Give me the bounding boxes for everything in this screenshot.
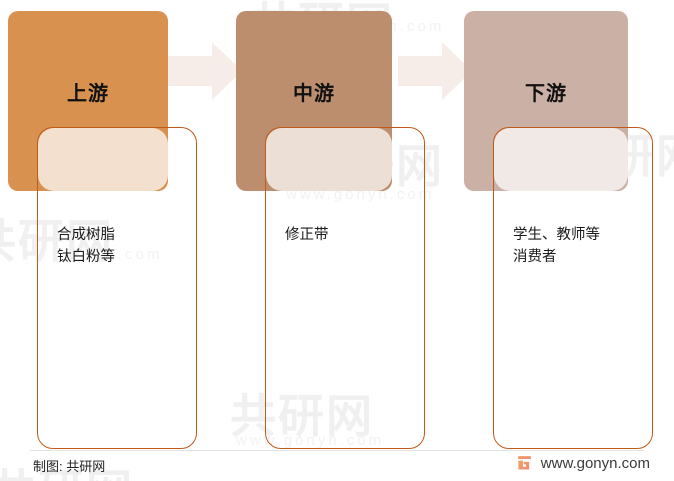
- stage-body-text-upstream: 合成树脂 钛白粉等: [57, 224, 189, 269]
- diagram-canvas: 共研网yn.com共研网yn.com共研网www.gonyn.com共研网共研网…: [0, 0, 674, 481]
- arrow-upstream-to-midstream: [168, 42, 242, 105]
- footer-divider: [30, 450, 644, 451]
- gonyn-g-logo-icon: [516, 455, 533, 472]
- stage-body-text-midstream: 修正带: [285, 224, 417, 246]
- footer-credit: 制图: 共研网: [33, 456, 105, 475]
- stage-body-box-upstream[interactable]: [37, 127, 197, 449]
- brand-block[interactable]: www.gonyn.com: [516, 455, 650, 472]
- brand-url: www.gonyn.com: [541, 455, 650, 472]
- arrow-midstream-to-downstream: [398, 42, 472, 105]
- stage-label-midstream: 中游: [236, 77, 392, 106]
- stage-label-upstream: 上游: [8, 77, 168, 106]
- stage-body-box-midstream[interactable]: [265, 127, 425, 449]
- stage-body-text-downstream: 学生、教师等 消费者: [513, 224, 651, 269]
- stage-body-box-downstream[interactable]: [493, 127, 653, 449]
- stage-label-downstream: 下游: [464, 77, 628, 106]
